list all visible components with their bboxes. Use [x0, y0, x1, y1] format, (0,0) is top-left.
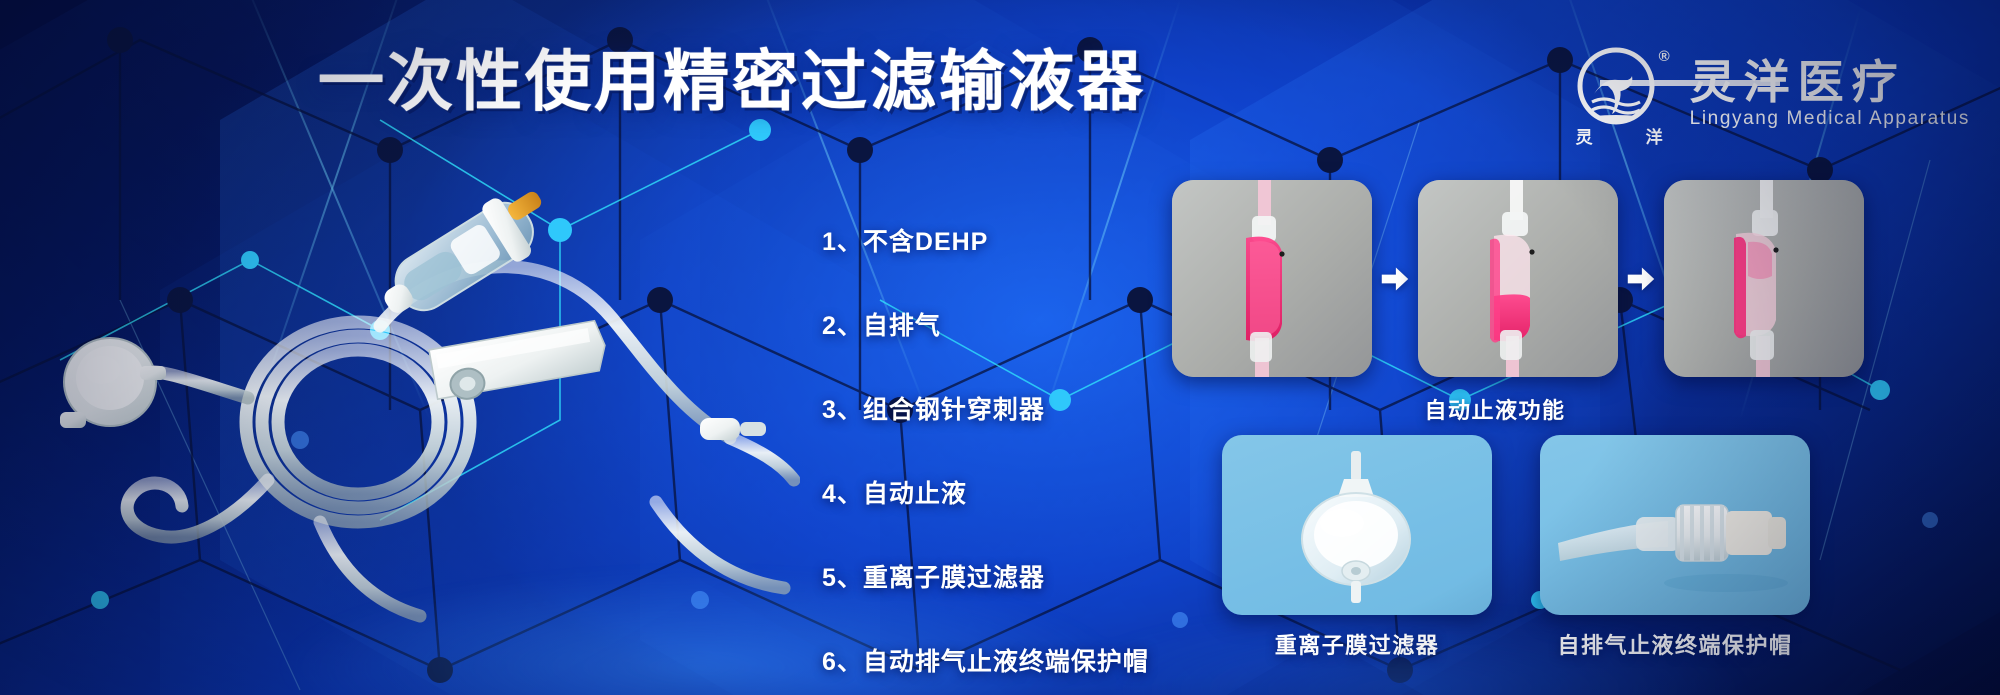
- main-title-text: 一次性使用精密过滤输液器: [318, 48, 1146, 114]
- brand-name-block: 灵洋医疗 Lingyang Medical Apparatus: [1690, 58, 1970, 130]
- product-card-row: [1222, 435, 1810, 615]
- auto-stop-step-3: [1664, 180, 1864, 377]
- roller-clamp-part: [429, 320, 610, 404]
- feature-item-3: 3、组合钢针穿刺器: [822, 390, 1149, 426]
- sequence-arrow-1-icon: [1372, 264, 1418, 294]
- auto-stop-step-1: [1172, 180, 1372, 377]
- product-card-filter: [1222, 435, 1492, 615]
- brand-name-cn: 灵洋医疗: [1690, 58, 1970, 106]
- auto-stop-step-2: [1418, 180, 1618, 377]
- feature-item-2: 2、自排气: [822, 306, 1149, 342]
- infusion-set-product-photo: [40, 150, 800, 650]
- membrane-filter-part: [60, 338, 166, 428]
- feature-item-5: 5、重离子膜过滤器: [822, 558, 1149, 594]
- y-site-connector-part: [700, 418, 766, 440]
- feature-item-6: 6、自动排气止液终端保护帽: [822, 642, 1149, 678]
- product-caption-filter: 重离子膜过滤器: [1222, 628, 1492, 660]
- product-card-cap: [1540, 435, 1810, 615]
- auto-stop-caption: 自动止液功能: [1172, 393, 1818, 425]
- page-title: 一次性使用精密过滤输液器: [318, 48, 1146, 114]
- brand-name-en: Lingyang Medical Apparatus: [1690, 108, 1970, 130]
- product-caption-cap: 自排气止液终端保护帽: [1540, 628, 1810, 660]
- sequence-arrow-2-icon: [1618, 264, 1664, 294]
- feature-item-1: 1、不含DEHP: [822, 222, 1149, 258]
- logo-char-yang: 洋: [1646, 123, 1664, 148]
- product-caption-row: 重离子膜过滤器 自排气止液终端保护帽: [1222, 628, 1810, 660]
- brand-logo: ® 灵 洋 灵洋医疗 Lingyang Medical Apparatus: [1572, 42, 1970, 146]
- drip-chamber-part: [369, 177, 563, 333]
- feature-list: 1、不含DEHP 2、自排气 3、组合钢针穿刺器 4、自动止液 5、重离子膜过滤…: [822, 222, 1149, 678]
- auto-stop-sequence: [1172, 180, 1864, 377]
- banner-canvas: 一次性使用精密过滤输液器 ® 灵 洋 灵洋医疗 Lingyang Medical…: [0, 0, 2000, 695]
- feature-item-4: 4、自动止液: [822, 474, 1149, 510]
- registered-trademark-icon: ®: [1659, 48, 1670, 65]
- logo-char-ling: 灵: [1576, 123, 1594, 148]
- logo-emblem-icon: ® 灵 洋: [1572, 42, 1668, 146]
- logo-emblem-caption: 灵 洋: [1572, 123, 1668, 148]
